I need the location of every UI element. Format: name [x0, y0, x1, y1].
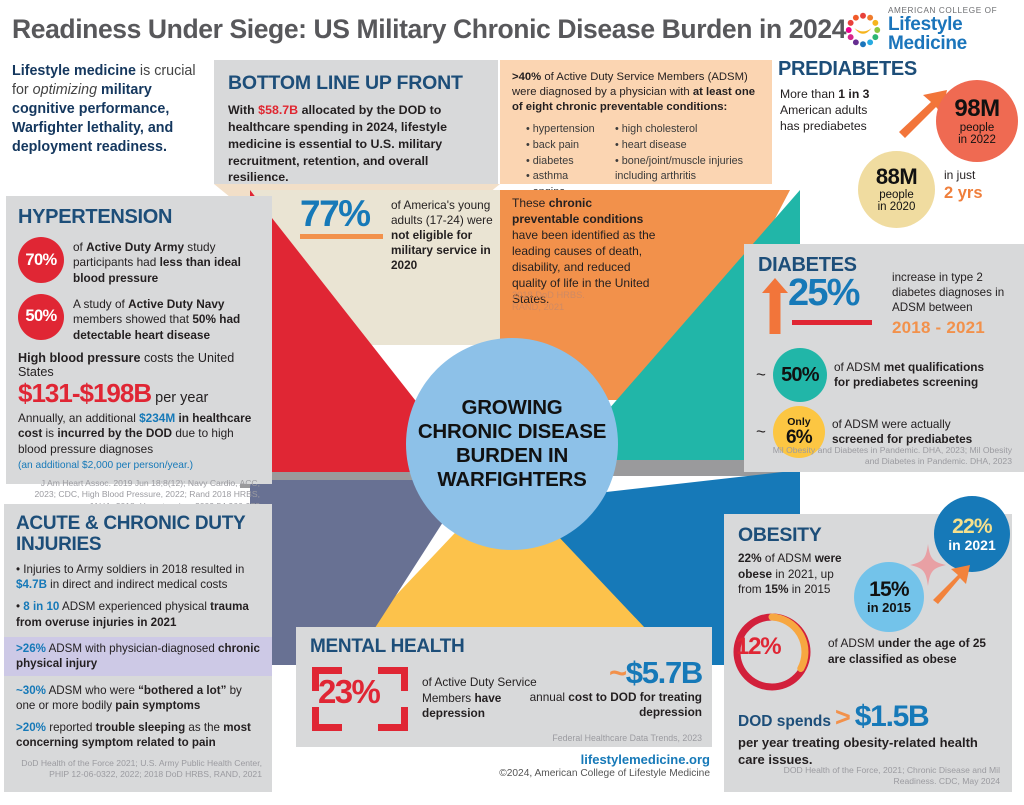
- stat-circle: 50%: [773, 348, 827, 402]
- obesity-under25-text: of ADSM under the age of 25 are classifi…: [828, 636, 994, 667]
- intro-statement: Lifestyle medicine is crucial for optimi…: [12, 62, 208, 157]
- center-line-2: CHRONIC DISEASE: [418, 420, 606, 444]
- list-item: bone/joint/muscle injuries: [615, 154, 760, 170]
- bluf-pre: With: [228, 103, 258, 117]
- acute-heading: ACUTE & CHRONIC DUTY INJURIES: [16, 514, 262, 556]
- ms-a: annual: [530, 690, 569, 704]
- obesity-panel: OBESITY 22% of ADSM were obese in 2021, …: [724, 514, 1012, 792]
- a1b: $4.7B: [16, 578, 47, 591]
- diabetes-year-range: 2018 - 2021: [892, 317, 1016, 339]
- timeframe-label: in just: [944, 168, 983, 183]
- stat-pill: 50%: [18, 294, 64, 340]
- bubble-year: in 2021: [948, 538, 995, 553]
- copyright-text: ©2024, American College of Lifestyle Med…: [400, 768, 710, 779]
- acute-item-3: >26% ADSM with physician-diagnosed chron…: [4, 637, 272, 676]
- page-title: Readiness Under Siege: US Military Chron…: [12, 14, 846, 45]
- prediabetes-timeframe: in just 2 yrs: [944, 168, 983, 204]
- diabetes-underline: [792, 320, 872, 325]
- list-item: asthma: [526, 169, 615, 185]
- a5d: as the: [185, 721, 223, 734]
- depression-pct: 23%: [318, 675, 379, 708]
- intro-lead-bold: Lifestyle medicine: [12, 63, 136, 79]
- a1c: in direct and indirect medical costs: [47, 578, 227, 591]
- ob-r-a: of ADSM: [828, 636, 878, 650]
- cost-amount: ~$5.7B: [512, 657, 702, 688]
- infographic-canvas: Readiness Under Siege: US Military Chron…: [0, 0, 1024, 805]
- a5c: trouble sleeping: [96, 721, 186, 734]
- n-b: $234M: [139, 411, 175, 425]
- s1b: Active Duty Army: [86, 240, 184, 254]
- bubble-year: in 2015: [867, 601, 911, 615]
- list-item: heart disease: [615, 138, 760, 154]
- bubble-unit: people: [960, 122, 995, 134]
- hypertension-heading: HYPERTENSION: [18, 206, 260, 229]
- center-hub: GROWING CHRONIC DISEASE BURDEN IN WARFIG…: [406, 338, 618, 550]
- cost-value: $5.7B: [626, 655, 702, 690]
- pre-sub-a: More than: [780, 87, 838, 101]
- adsm-column-1: hypertension back pain diabetes asthma a…: [512, 122, 615, 201]
- mental-citation: Federal Healthcare Data Trends, 2023: [552, 733, 702, 743]
- greater-than-icon: >: [835, 702, 851, 733]
- o-f: in 2015: [789, 582, 831, 596]
- stat77-text-b: not eligible for military service in 202…: [391, 228, 491, 272]
- prediabetes-panel: PREDIABETES More than 1 in 3 American ad…: [778, 58, 1024, 238]
- acute-item-5: >20% reported trouble sleeping as the mo…: [16, 720, 262, 751]
- diabetes-increase-text: increase in type 2 diabetes diagnoses in…: [892, 270, 1016, 339]
- hypertension-stat-50: 50% A study of Active Duty Navy members …: [18, 294, 260, 343]
- acl-logo: AMERICAN COLLEGE OF Lifestyle Medicine: [844, 6, 1016, 54]
- prediabetes-2022-bubble: 98M people in 2022: [936, 80, 1018, 162]
- acute-citation: DoD Health of the Force 2021; U.S. Army …: [16, 758, 262, 781]
- diabetes-increase-pct: 25%: [788, 274, 859, 312]
- a2c: ADSM experienced physical: [59, 600, 210, 613]
- bubble-value: 15%: [869, 579, 909, 601]
- o-e: 15%: [765, 582, 789, 596]
- list-item: high cholesterol: [615, 122, 760, 138]
- stat-pill: 70%: [18, 237, 64, 283]
- hbp-bold: High blood pressure: [18, 351, 140, 365]
- obesity-under25-pct: 12%: [736, 633, 780, 661]
- website-link[interactable]: lifestylemedicine.org: [400, 752, 710, 767]
- hbp-amount-value: $131-$198B: [18, 378, 151, 408]
- obesity-lead: 22% of ADSM were obese in 2021, up from …: [738, 551, 856, 598]
- pre-sub-b: 1 in 3: [838, 87, 869, 101]
- bluf-amount: $58.7B: [258, 103, 298, 117]
- hbp-per-year: per year: [151, 390, 208, 406]
- stat77-number-group: 77%: [300, 196, 383, 273]
- stat-body: of ADSM were actually screened for predi…: [832, 417, 984, 448]
- center-line-3: BURDEN IN: [456, 444, 568, 468]
- timeframe-value: 2 yrs: [944, 183, 983, 204]
- a4a: ~30%: [16, 684, 46, 697]
- hbp-cost-label: High blood pressure costs the United Sta…: [18, 351, 260, 379]
- o-a: 22%: [738, 551, 762, 565]
- logo-wordmark: AMERICAN COLLEGE OF Lifestyle Medicine: [888, 7, 1016, 53]
- a1a: • Injuries to Army soldiers in 2018 resu…: [16, 563, 244, 576]
- hbp-cost-amount: $131-$198B per year: [18, 379, 260, 409]
- approx-symbol: ~: [756, 365, 766, 385]
- mental-health-panel: MENTAL HEALTH 23% of Active Duty Service…: [296, 627, 712, 747]
- s1a: of: [73, 240, 86, 254]
- orange-wedge-citation: 2018 DoD HRBS. RAND, 2021: [512, 289, 662, 313]
- list-item: back pain: [526, 138, 615, 154]
- citation-line-2: RAND, 2021: [512, 301, 662, 313]
- stat-body: A study of Active Duty Navy members show…: [73, 294, 260, 343]
- cost-tilde: ~: [609, 655, 626, 690]
- bluf-heading: BOTTOM LINE UP FRONT: [228, 72, 484, 95]
- orange-a: These: [512, 196, 549, 210]
- n-a: Annually, an additional: [18, 411, 139, 425]
- o-b: of ADSM: [762, 551, 815, 565]
- bubble-year: in 2022: [958, 134, 996, 146]
- list-item-continuation: including arthritis: [615, 169, 760, 185]
- diabetes-stat-50: ~ 50% of ADSM met qualifications for pre…: [756, 348, 986, 402]
- up-arrow-icon: [762, 278, 788, 334]
- spend-label: DOD spends: [738, 713, 831, 731]
- stat77-number: 77%: [300, 196, 383, 231]
- a5b: reported: [46, 721, 96, 734]
- ms-b: cost to DOD for treating depression: [568, 690, 702, 719]
- bubble-value: 22%: [952, 516, 992, 538]
- a4e: pain symptoms: [115, 699, 200, 712]
- prediabetes-subtext: More than 1 in 3 American adults has pre…: [780, 87, 890, 135]
- bubble-unit: people: [879, 189, 914, 201]
- center-line-4: WARFIGHTERS: [437, 468, 586, 492]
- d2a: of ADSM were actually: [832, 417, 951, 431]
- stat77-text-a: of America's young adults (17-24) were: [391, 198, 493, 227]
- lifestyle-medicine-mark-icon: [844, 11, 882, 49]
- bubble-year: in 2020: [878, 201, 916, 213]
- stat77-text: of America's young adults (17-24) were n…: [391, 196, 499, 273]
- acute-item-1: • Injuries to Army soldiers in 2018 resu…: [16, 562, 262, 593]
- bubble-value: 98M: [954, 96, 999, 122]
- prediabetes-2020-bubble: 88M people in 2020: [858, 151, 935, 228]
- hypertension-stat-70: 70% of Active Duty Army study participan…: [18, 237, 260, 286]
- s2b: Active Duty Navy: [128, 297, 224, 311]
- diabetes-panel: DIABETES 25% increase in type 2 diabetes…: [744, 244, 1024, 472]
- acute-item-2: • 8 in 10 ADSM experienced physical trau…: [16, 599, 262, 630]
- adsm-lead: >40% of Active Duty Service Members (ADS…: [512, 70, 760, 115]
- adsm-condition-columns: hypertension back pain diabetes asthma a…: [512, 122, 760, 201]
- stat77-underline: [300, 234, 383, 239]
- logo-bottom-line: Lifestyle Medicine: [888, 15, 1016, 53]
- stat-body: of Active Duty Army study participants h…: [73, 237, 260, 286]
- prediabetes-heading: PREDIABETES: [778, 58, 1024, 81]
- acute-item-4: ~30% ADSM who were “bothered a lot” by o…: [16, 683, 262, 714]
- a3a: >26%: [16, 642, 46, 655]
- citation-line-1: 2018 DoD HRBS.: [512, 289, 662, 301]
- bluf-body: With $58.7B allocated by the DOD to heal…: [228, 102, 484, 186]
- a4b: ADSM who were: [46, 684, 138, 697]
- adsm-conditions-panel: >40% of Active Duty Service Members (ADS…: [500, 60, 772, 184]
- a5a: >20%: [16, 721, 46, 734]
- spending-headline: DOD spends > $1.5B: [738, 700, 1000, 734]
- s2a: A study of: [73, 297, 128, 311]
- stat-body: of ADSM met qualifications for prediabet…: [834, 360, 986, 391]
- n-e: incurred by the DOD: [57, 426, 172, 440]
- approx-symbol: ~: [756, 422, 766, 442]
- obesity-spending: DOD spends > $1.5B per year treating obe…: [738, 700, 1000, 769]
- obesity-citation: DOD Health of the Force, 2021; Chronic D…: [750, 765, 1000, 787]
- spend-amount: $1.5B: [855, 700, 929, 734]
- adsm-lead-pct: >40%: [512, 71, 541, 83]
- s2c: members showed that: [73, 312, 192, 326]
- depression-cost: ~$5.7B annual cost to DOD for treating d…: [512, 657, 702, 721]
- list-item: diabetes: [526, 154, 615, 170]
- diabetes-citation: Mil Obesity and Diabetes in Pandemic. DH…: [756, 445, 1012, 467]
- hbp-parenthetical: (an additional $2,000 per person/year.): [18, 460, 260, 471]
- acute-chronic-injuries-panel: ACUTE & CHRONIC DUTY INJURIES • Injuries…: [4, 504, 272, 792]
- footer: lifestylemedicine.org ©2024, American Co…: [400, 752, 710, 779]
- intro-lead-norm: is: [136, 63, 150, 79]
- n-d: is: [42, 426, 57, 440]
- bubble-value: 88M: [876, 165, 917, 189]
- cost-sub: annual cost to DOD for treating depressi…: [512, 690, 702, 721]
- dia-right-text: increase in type 2 diabetes diagnoses in…: [892, 271, 1004, 314]
- intro-optimizing: optimizing: [33, 82, 97, 98]
- hbp-dod-note: Annually, an additional $234M in healthc…: [18, 411, 260, 457]
- a3b: ADSM with physician-diagnosed: [46, 642, 218, 655]
- pre-sub-c: American adults has prediabetes: [780, 103, 867, 133]
- bottom-line-up-front-panel: BOTTOM LINE UP FRONT With $58.7B allocat…: [214, 60, 498, 184]
- adsm-column-2: high cholesterol heart disease bone/join…: [615, 122, 760, 201]
- a2b: 8 in 10: [23, 600, 59, 613]
- eligibility-stat: 77% of America's young adults (17-24) we…: [300, 196, 500, 273]
- center-line-1: GROWING: [461, 396, 562, 420]
- a4c: “bothered a lot”: [138, 684, 226, 697]
- growth-arrow-icon: [930, 562, 972, 604]
- hypertension-panel: HYPERTENSION 70% of Active Duty Army stu…: [6, 196, 272, 484]
- d1a: of ADSM: [834, 360, 884, 374]
- list-item: hypertension: [526, 122, 615, 138]
